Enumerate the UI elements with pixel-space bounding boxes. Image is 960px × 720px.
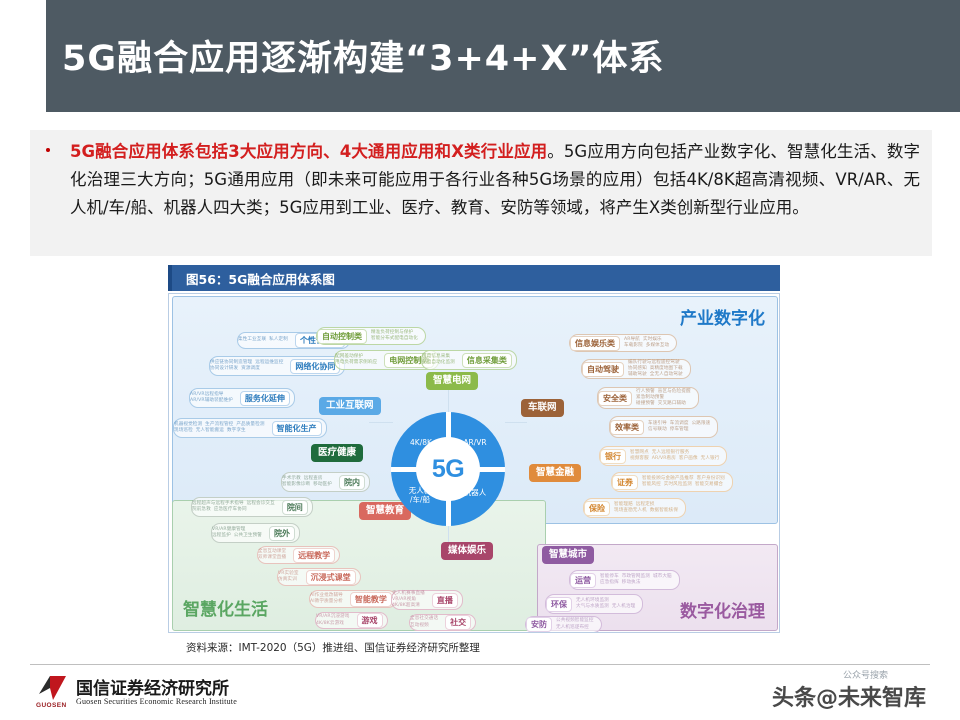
leaf-box: 效率类 车速引导车流调度公路限速信号联动停车管理 xyxy=(609,416,718,438)
figure-title: 图56：5G融合应用体系图 xyxy=(186,269,335,288)
leaf-key: 环保 xyxy=(546,597,572,612)
footer-logo-cn: 国信证券经济研究所 xyxy=(76,674,229,699)
category-industrial-internet[interactable]: 工业互联网 xyxy=(319,397,381,415)
leaf-box: 供应链协同制造管理远程运维监控协同设计研发资源调度 网络化协同 xyxy=(209,356,345,376)
leaf-tags: 智能投顾与金融产品推荐客户身份识别智能风控实时风险监测智能交易撮合 xyxy=(642,476,732,488)
footer-logo-en: Guosen Securities Economic Research Inst… xyxy=(76,697,237,706)
leaf-box: 自动控制类 精准负荷控制与保护智能分布式配电自动化 xyxy=(316,327,426,345)
leaf-tags: VR实验室仿真实训 xyxy=(278,571,306,583)
leaf-box: 银行 智慧网点无人远程银行服务视频客服AR/VR看房客户画像无人银行 xyxy=(599,446,727,466)
leaf-key: 网络化协同 xyxy=(290,359,340,374)
leaf-key: 院内 xyxy=(339,475,365,490)
slide: 5G融合应用逐渐构建“3+4+X”体系 5G融合应用体系包括3大应用方向、4大通… xyxy=(0,0,960,720)
category-smart-finance[interactable]: 智慧金融 xyxy=(529,464,581,482)
leaf-tags: 柔性工业互联私人定制 xyxy=(238,337,295,343)
leaf-tags: 全息社交通话互动视频 xyxy=(410,616,445,628)
watermark: 头条@未来智库 xyxy=(772,680,926,712)
leaf-box: 自动驾驶 编队行驶与远程遥控驾驶协同感知高精度地图下载辅助驾驶全无人自动驾驶 xyxy=(581,359,691,379)
leaf-box: 保险 智能理赔远程定损现场查勘无人机数据智能核保 xyxy=(583,498,686,518)
guosen-logo-icon xyxy=(36,674,70,704)
leaf-box: 全息社交通话互动视频 社交 xyxy=(409,614,476,631)
figure-container: 图56：5G融合应用体系图 柔性工业互联私人定制 个性化定制 供应链协同制造管理… xyxy=(168,265,780,633)
leaf-key: 信息娱乐类 xyxy=(570,336,620,351)
leaf-tags: 车速引导车流调度公路限速信号联动停车管理 xyxy=(648,421,717,433)
leaf-key: 院间 xyxy=(282,500,308,515)
connector-line xyxy=(369,422,393,423)
category-internet-of-vehicles[interactable]: 车联网 xyxy=(521,399,564,417)
leaf-box: AI作业批改辅导AI教学质量分析 智能教学 xyxy=(309,590,397,608)
category-smart-grid[interactable]: 智慧电网 xyxy=(426,372,478,390)
region-label-digital-governance: 数字化治理 xyxy=(680,597,765,622)
leaf-key: 远程教学 xyxy=(293,548,335,563)
leaf-key: 运营 xyxy=(570,573,596,588)
bullet-dot-icon xyxy=(46,148,50,152)
leaf-tags: 机器视觉检测生产流程管控产品质量检测现场巡检无人智能搬运数字孪生 xyxy=(174,422,272,434)
leaf-box: 无人机赛事直播VR/AR视角4K/8K超高清 直播 xyxy=(391,590,463,610)
leaf-tags: 远程超声与远程手术指导远程会诊交互院前急救应急医疗车协同 xyxy=(192,501,282,513)
leaf-key: 证券 xyxy=(612,475,638,490)
leaf-box: 机器视觉检测生产流程管控产品质量检测现场巡检无人智能搬运数字孪生 智能化生产 xyxy=(173,418,327,438)
footer-logo-code: GUOSEN xyxy=(36,702,67,709)
summary-text: 5G融合应用体系包括3大应用方向、4大通用应用和X类行业应用。5G应用方向包括产… xyxy=(70,138,920,222)
hub-core: 5G xyxy=(416,437,480,501)
leaf-tags: 精准负荷控制与保护智能分布式配电自动化 xyxy=(371,330,425,342)
figure-canvas: 柔性工业互联私人定制 个性化定制 供应链协同制造管理远程运维监控协同设计研发资源… xyxy=(168,293,780,633)
category-medical-health[interactable]: 医疗健康 xyxy=(311,444,363,462)
leaf-tags: AI作业批改辅导AI教学质量分析 xyxy=(310,593,350,605)
leaf-box: 全息互动课堂双师课堂直播 远程教学 xyxy=(257,546,340,564)
connector-line xyxy=(505,422,527,423)
leaf-box: VR实验室仿真实训 沉浸式课堂 xyxy=(277,568,361,586)
leaf-tags: AR/VR远程指导AR/VR辅助装配维护 xyxy=(190,392,240,404)
leaf-tags: VR/AR沉浸游戏4K/8K云游戏 xyxy=(316,614,357,626)
leaf-key: 保险 xyxy=(584,501,610,516)
leaf-box: 证券 智能投顾与金融产品推荐客户身份识别智能风控实时风险监测智能交易撮合 xyxy=(611,472,733,492)
leaf-box: 信息娱乐类 AR导航实时娱乐车载影院多媒体互动 xyxy=(569,334,677,352)
connector-line xyxy=(448,390,449,414)
leaf-key: 信息采集类 xyxy=(462,353,512,368)
leaf-key: 服务化延伸 xyxy=(240,391,290,406)
leaf-box: 运营 智能停车市政管网监测城市大脑应急指挥移动执法 xyxy=(569,570,680,590)
leaf-box: 安全类 行人预警盲区与危险提醒紧急制动预警碰撞预警交叉路口辅助 xyxy=(597,387,699,409)
slide-header: 5G融合应用逐渐构建“3+4+X”体系 xyxy=(0,0,960,112)
leaf-box: 安防 公共视频智能监控无人机巡逻布控 xyxy=(525,616,602,633)
leaf-tags: 无人机环境监测大气与水质监测无人机治理 xyxy=(576,598,642,610)
leaf-key: 院外 xyxy=(269,526,295,541)
leaf-tags: VR/AR健康管理远程监护公共卫生预警 xyxy=(212,527,269,539)
leaf-box: 用电信息采集配电自动化监测 信息采集类 xyxy=(421,350,517,370)
leaf-tags: 编队行驶与远程遥控驾驶协同感知高精度地图下载辅助驾驶全无人自动驾驶 xyxy=(628,360,690,379)
footer-divider xyxy=(30,664,930,665)
leaf-tags: 全息互动课堂双师课堂直播 xyxy=(258,549,293,561)
leaf-key: 银行 xyxy=(600,449,626,464)
leaf-tags: 公共视频智能监控无人机巡逻布控 xyxy=(556,618,601,630)
figure-title-bar: 图56：5G融合应用体系图 xyxy=(168,265,780,291)
category-smart-city[interactable]: 智慧城市 xyxy=(542,546,594,564)
central-5g-hub: 4K/8K AR/VR 无人机/车/船 机器人 5G xyxy=(391,412,505,526)
summary-callout: 5G融合应用体系包括3大应用方向、4大通用应用和X类行业应用。5G应用方向包括产… xyxy=(30,130,932,256)
leaf-tags: 行人预警盲区与危险提醒紧急制动预警碰撞预警交叉路口辅助 xyxy=(636,389,698,408)
leaf-box: 手术示教远程查房智能影像诊断移动医护 院内 xyxy=(281,472,370,492)
leaf-box: VR/AR沉浸游戏4K/8K云游戏 游戏 xyxy=(315,612,388,629)
leaf-box: 环保 无人机环境监测大气与水质监测无人机治理 xyxy=(545,594,643,614)
category-media-entertainment[interactable]: 媒体娱乐 xyxy=(441,542,493,560)
leaf-tags: 用电信息采集配电自动化监测 xyxy=(422,354,462,366)
leaf-box: AR/VR远程指导AR/VR辅助装配维护 服务化延伸 xyxy=(189,388,295,408)
region-label-industrial-digitalization: 产业数字化 xyxy=(680,304,765,329)
leaf-key: 直播 xyxy=(432,593,458,608)
leaf-box: 远程超声与远程手术指导远程会诊交互院前急救应急医疗车协同 院间 xyxy=(191,497,313,517)
leaf-tags: 配网差动保护用电负荷需求侧响应 xyxy=(335,354,384,366)
leaf-tags: 智能理赔远程定损现场查勘无人机数据智能核保 xyxy=(614,502,685,514)
leaf-key: 安防 xyxy=(526,617,552,632)
leaf-key: 智能化生产 xyxy=(272,421,322,436)
leaf-tags: 供应链协同制造管理远程运维监控协同设计研发资源调度 xyxy=(210,360,290,372)
region-label-smart-life: 智慧化生活 xyxy=(183,595,268,620)
summary-highlight: 5G融合应用体系包括3大应用方向、4大通用应用和X类行业应用 xyxy=(70,142,547,161)
leaf-tags: 智能停车市政管网监测城市大脑应急指挥移动执法 xyxy=(600,574,679,586)
leaf-box: VR/AR健康管理远程监护公共卫生预警 院外 xyxy=(211,523,300,543)
header-accent-bar xyxy=(0,0,46,112)
leaf-key: 自动控制类 xyxy=(317,329,367,344)
leaf-tags: 手术示教远程查房智能影像诊断移动医护 xyxy=(282,476,339,488)
leaf-key: 沉浸式课堂 xyxy=(306,570,356,585)
hub-core-label: 5G xyxy=(432,455,464,484)
leaf-tags: 智慧网点无人远程银行服务视频客服AR/VR看房客户画像无人银行 xyxy=(630,450,726,462)
leaf-key: 游戏 xyxy=(357,613,383,628)
leaf-key: 自动驾驶 xyxy=(582,362,624,377)
leaf-tags: AR导航实时娱乐车载影院多媒体互动 xyxy=(624,337,676,349)
leaf-key: 安全类 xyxy=(598,391,632,406)
leaf-key: 社交 xyxy=(445,615,471,630)
leaf-tags: 无人机赛事直播VR/AR视角4K/8K超高清 xyxy=(392,591,432,610)
figure-source: 资料来源：IMT-2020（5G）推进组、国信证券经济研究所整理 xyxy=(186,640,480,655)
leaf-key: 智能教学 xyxy=(350,592,392,607)
page-title: 5G融合应用逐渐构建“3+4+X”体系 xyxy=(62,30,664,81)
leaf-key: 效率类 xyxy=(610,420,644,435)
